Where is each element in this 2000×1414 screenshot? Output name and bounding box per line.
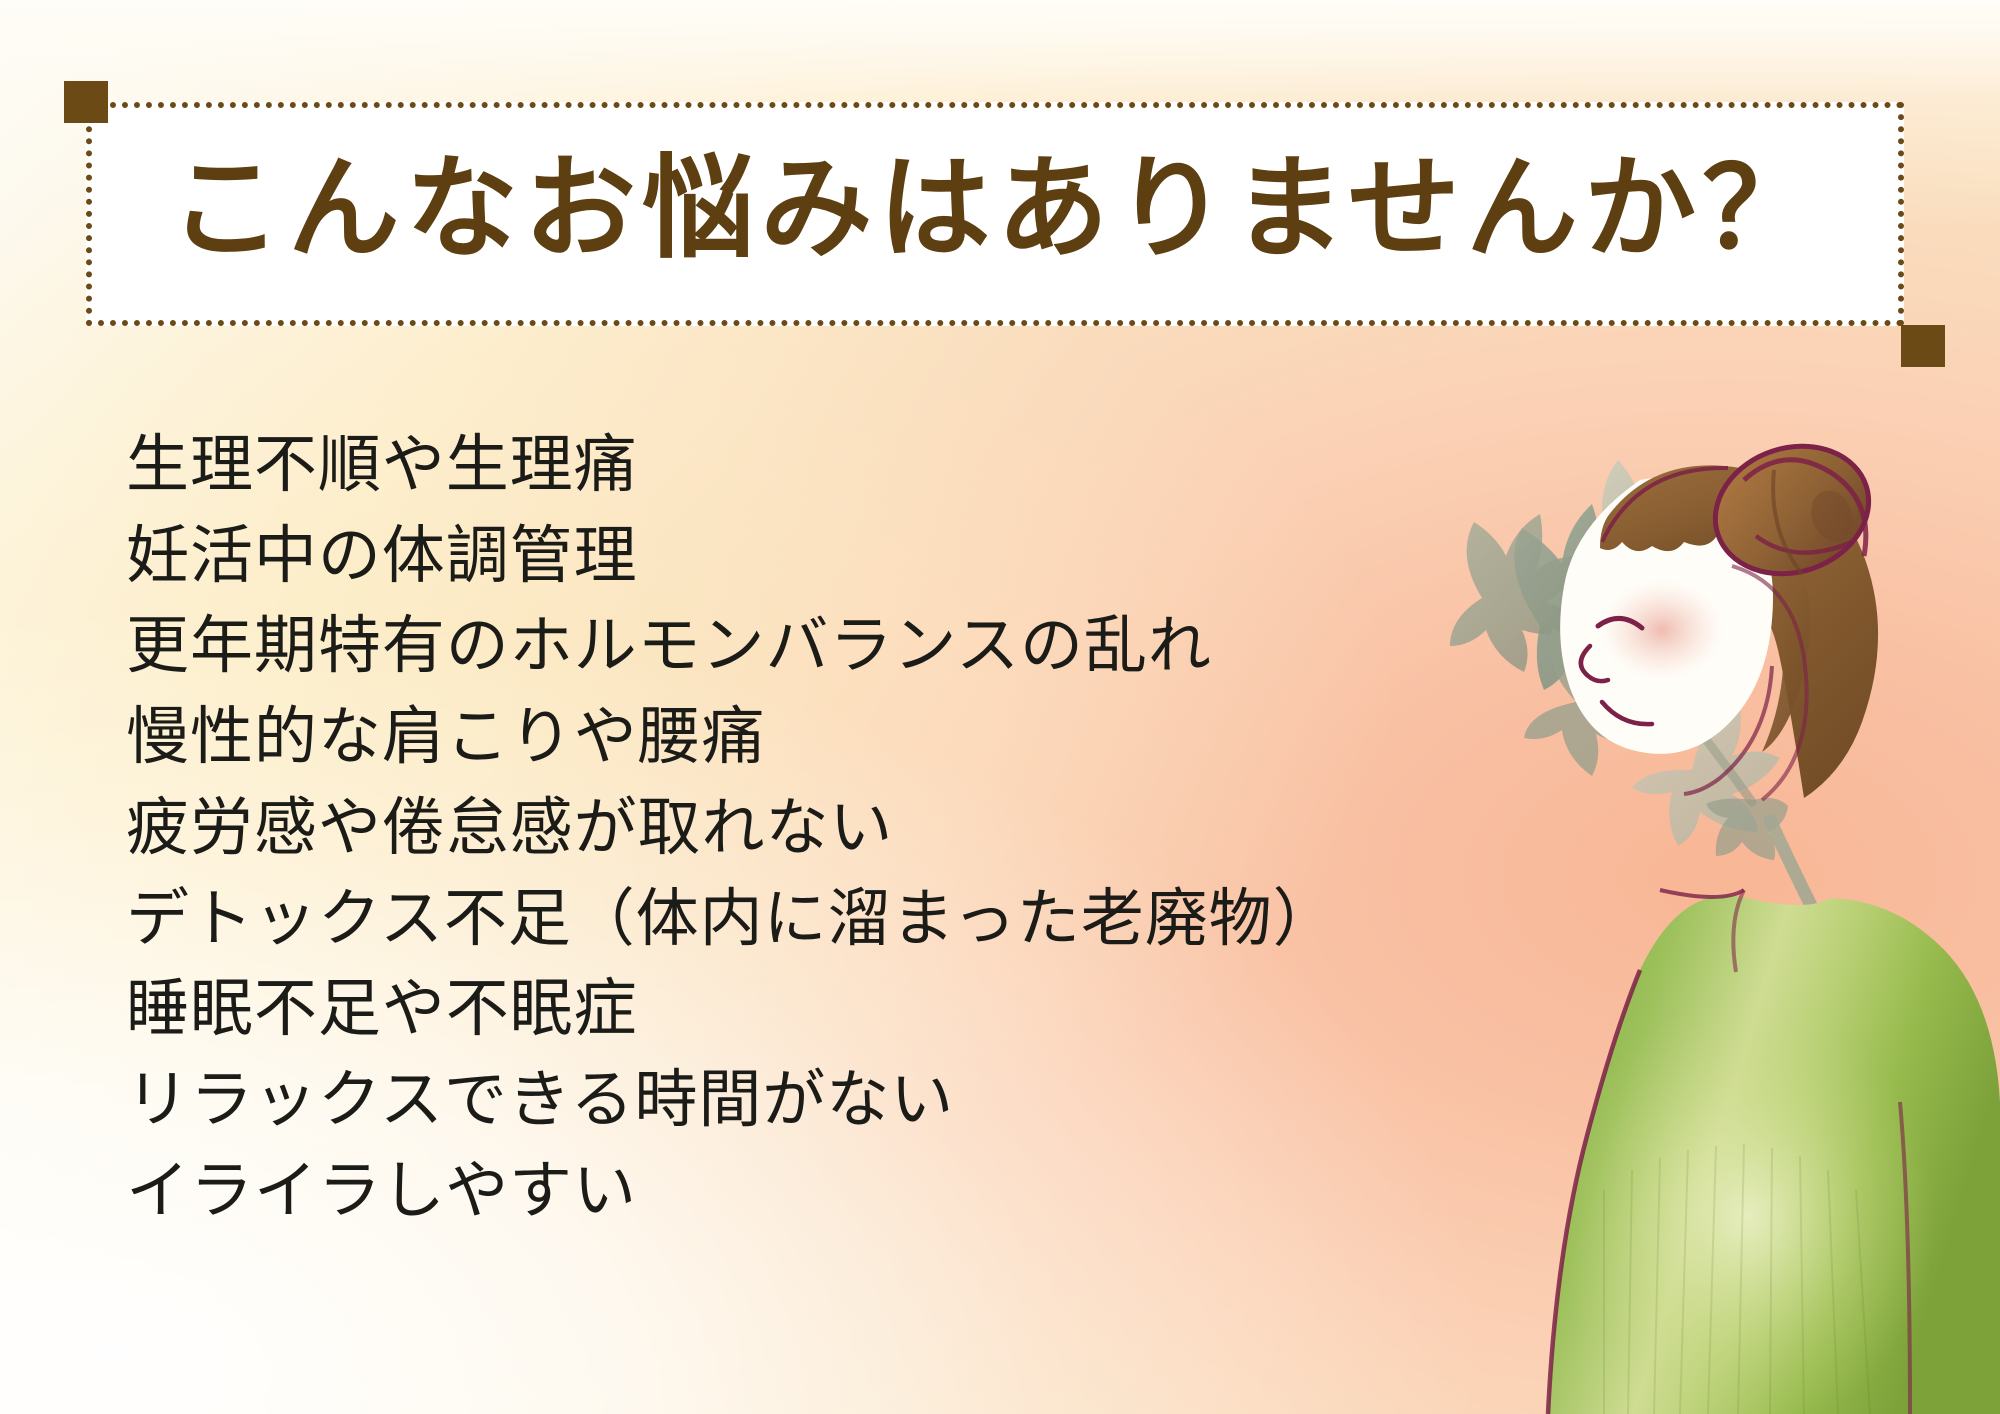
- list-item: 慢性的な肩こりや腰痛: [126, 692, 1426, 783]
- list-item: イライラしやすい: [126, 1146, 1426, 1237]
- list-item: 妊活中の体調管理: [126, 511, 1426, 602]
- page-title: こんなお悩みはありませんか？: [170, 154, 1821, 266]
- list-item: 睡眠不足や不眠症: [126, 964, 1426, 1055]
- list-item: 更年期特有のホルモンバランスの乱れ: [126, 601, 1426, 692]
- list-item: リラックスできる時間がない: [126, 1055, 1426, 1146]
- concerns-list: 生理不順や生理痛 妊活中の体調管理 更年期特有のホルモンバランスの乱れ 慢性的な…: [126, 420, 1426, 1236]
- corner-square-bottom-right: [1901, 325, 1945, 367]
- slide-root: こんなお悩みはありませんか？ 生理不順や生理痛 妊活中の体調管理 更年期特有のホ…: [0, 0, 2000, 1414]
- corner-square-top-left: [64, 81, 108, 123]
- list-item: 生理不順や生理痛: [126, 420, 1426, 511]
- list-item: デトックス不足（体内に溜まった老廃物）: [126, 874, 1426, 965]
- list-item: 疲労感や倦怠感が取れない: [126, 783, 1426, 874]
- title-container: こんなお悩みはありませんか？: [86, 102, 1904, 326]
